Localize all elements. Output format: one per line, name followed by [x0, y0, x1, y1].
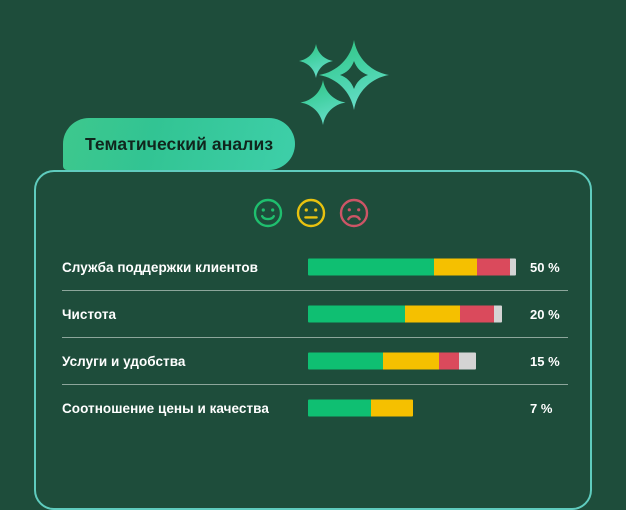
neutral-face-icon	[295, 197, 327, 229]
bar-segment-negative	[439, 353, 459, 370]
bar-segment-neutral	[383, 353, 439, 370]
topic-row[interactable]: Чистота20 %	[62, 291, 568, 337]
bar-segment-unknown	[459, 353, 476, 370]
topic-row[interactable]: Услуги и удобства15 %	[62, 338, 568, 384]
topic-row[interactable]: Служба поддержки клиентов50 %	[62, 244, 568, 290]
sentiment-bar	[308, 400, 413, 417]
bar-segment-negative	[477, 259, 510, 276]
stacked-bar	[308, 353, 476, 370]
bar-segment-negative	[460, 306, 494, 323]
title-badge: Тематический анализ	[63, 118, 295, 170]
stacked-bar	[308, 259, 516, 276]
topic-percent: 7 %	[530, 401, 552, 416]
infographic-canvas: Тематический анализ Служба поддержки кли…	[0, 0, 626, 484]
page-title: Тематический анализ	[85, 134, 273, 155]
stacked-bar	[308, 400, 413, 417]
bar-segment-unknown	[510, 259, 516, 276]
bar-segment-positive	[308, 306, 405, 323]
topic-label: Служба поддержки клиентов	[62, 260, 258, 275]
topic-label: Соотношение цены и качества	[62, 401, 269, 416]
topic-percent: 50 %	[530, 260, 560, 275]
topic-label: Услуги и удобства	[62, 354, 185, 369]
sentiment-legend	[252, 197, 370, 229]
bar-segment-positive	[308, 259, 434, 276]
bar-segment-neutral	[371, 400, 413, 417]
bar-segment-positive	[308, 353, 383, 370]
topic-list: Служба поддержки клиентов50 %Чистота20 %…	[62, 244, 568, 431]
topic-row[interactable]: Соотношение цены и качества7 %	[62, 385, 568, 431]
sad-face-icon	[338, 197, 370, 229]
bar-segment-unknown	[494, 306, 502, 323]
bar-segment-neutral	[434, 259, 477, 276]
topic-percent: 20 %	[530, 307, 560, 322]
happy-face-icon	[252, 197, 284, 229]
sentiment-bar	[308, 306, 502, 323]
stacked-bar	[308, 306, 502, 323]
topic-percent: 15 %	[530, 354, 560, 369]
sentiment-bar	[308, 353, 476, 370]
bar-segment-positive	[308, 400, 371, 417]
bar-segment-neutral	[405, 306, 460, 323]
topic-label: Чистота	[62, 307, 116, 322]
sentiment-bar	[308, 259, 516, 276]
sparkle-icon	[291, 34, 395, 130]
